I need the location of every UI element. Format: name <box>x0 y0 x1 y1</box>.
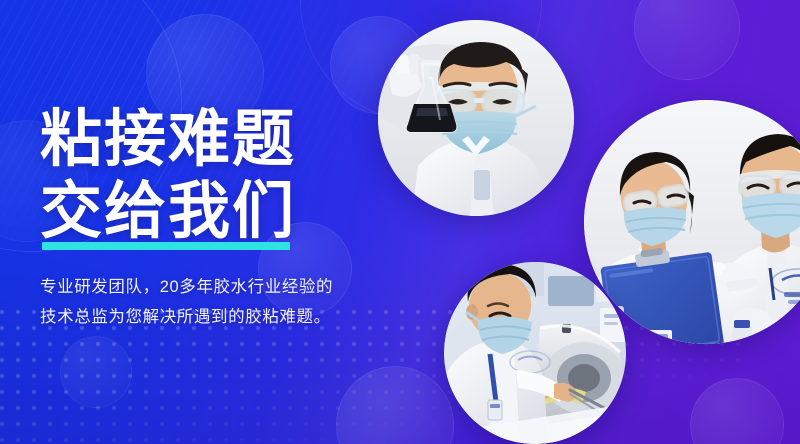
headline-block: 粘接难题 交给我们 <box>40 104 380 248</box>
bubble-decoration <box>336 366 454 444</box>
promo-banner: 粘接难题 交给我们 专业研发团队，20多年胶水行业经验的 技术总监为您解决所遇到… <box>0 0 800 444</box>
bubble-decoration <box>634 0 740 80</box>
bubble-decoration <box>60 336 132 408</box>
bubble-decoration <box>690 378 784 444</box>
subtitle-line-2: 技术总监为您解决所遇到的胶粘难题。 <box>40 302 333 332</box>
subtitle-line-1: 专业研发团队，20多年胶水行业经验的 <box>40 272 333 302</box>
headline-line-2: 交给我们 <box>40 177 296 246</box>
photo-two-technicians-clipboard <box>584 100 800 344</box>
photo-technician-equipment <box>444 262 626 444</box>
headline-line-2-wrap: 交给我们 <box>40 176 296 248</box>
subtitle-block: 专业研发团队，20多年胶水行业经验的 技术总监为您解决所遇到的胶粘难题。 <box>40 272 333 332</box>
photo-scientist-flask <box>378 20 574 216</box>
headline-line-1: 粘接难题 <box>40 104 380 176</box>
headline-underline-accent <box>42 242 290 250</box>
